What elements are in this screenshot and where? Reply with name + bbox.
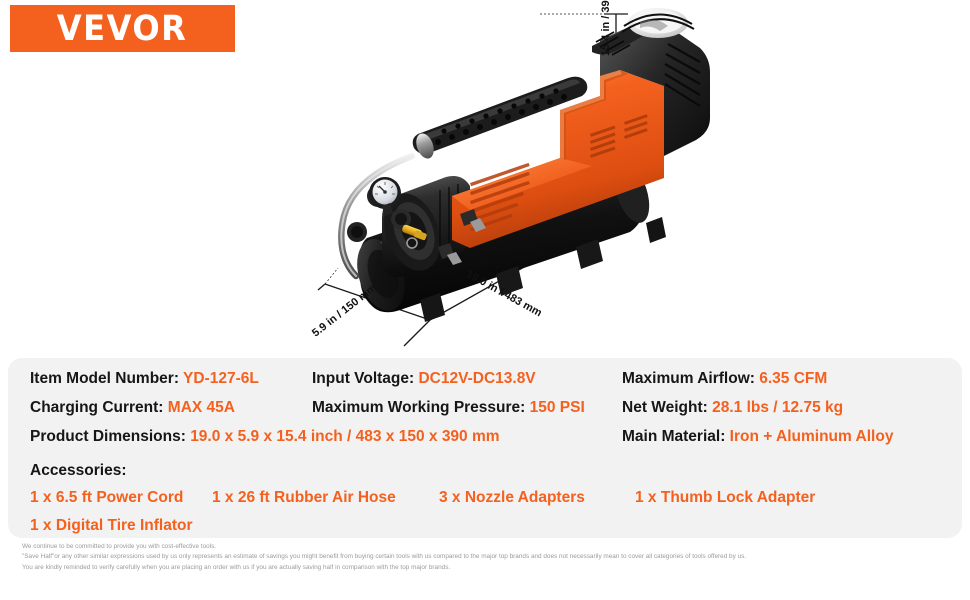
disclaimer-line-3: You are kindly reminded to verify carefu… [22,563,942,573]
spec-label: Net Weight: [622,399,712,416]
spec-label: Main Material: [622,428,730,445]
specifications-panel: Item Model Number: YD-127-6L Input Volta… [8,358,962,538]
accessories-row: 1 x 6.5 ft Power Cord 1 x 26 ft Rubber A… [8,484,962,512]
spec-charging-current: Charging Current: MAX 45A [30,399,312,417]
accessories-heading: Accessories: [8,457,962,484]
spec-value: 150 PSI [530,399,585,416]
disclaimer-line-1: We continue to be committed to provide y… [22,542,942,552]
spec-value: 28.1 lbs / 12.75 kg [712,399,843,416]
dimension-height-label: 15.4 in / 390 mm [600,0,612,56]
spec-row: Product Dimensions: 19.0 x 5.9 x 15.4 in… [8,428,962,457]
spec-label: Input Voltage: [312,370,418,387]
spec-item-model-number: Item Model Number: YD-127-6L [30,370,312,388]
spec-maximum-airflow: Maximum Airflow: 6.35 CFM [622,370,952,388]
spec-value: YD-127-6L [183,370,259,387]
product-illustration [0,0,970,352]
spec-row: Item Model Number: YD-127-6L Input Volta… [8,370,962,399]
spec-product-dimensions: Product Dimensions: 19.0 x 5.9 x 15.4 in… [30,428,622,446]
spec-value: 19.0 x 5.9 x 15.4 inch / 483 x 150 x 390… [190,428,499,445]
accessory-item: 1 x Digital Tire Inflator [30,512,193,540]
spec-input-voltage: Input Voltage: DC12V-DC13.8V [312,370,622,388]
spec-row: Charging Current: MAX 45A Maximum Workin… [8,399,962,428]
spec-maximum-working-pressure: Maximum Working Pressure: 150 PSI [312,399,622,417]
spec-main-material: Main Material: Iron + Aluminum Alloy [622,428,952,446]
accessory-item: 3 x Nozzle Adapters [439,484,635,512]
spec-value: MAX 45A [168,399,235,416]
brand-logo: VEVOR [10,5,235,52]
disclaimer-line-2: "Save Half"or any other similar expressi… [22,552,942,562]
spec-value: Iron + Aluminum Alloy [730,428,894,445]
spec-value: DC12V-DC13.8V [418,370,535,387]
product-hero: 15.4 in / 390 mm 19.0 in / 483 mm 5.9 in… [0,0,970,352]
accessory-item: 1 x 6.5 ft Power Cord [30,484,212,512]
spec-label: Item Model Number: [30,370,183,387]
spec-value: 6.35 CFM [759,370,827,387]
accessories-row: 1 x Digital Tire Inflator [8,512,962,540]
spec-net-weight: Net Weight: 28.1 lbs / 12.75 kg [622,399,952,417]
accessory-item: 1 x 26 ft Rubber Air Hose [212,484,439,512]
spec-label: Product Dimensions: [30,428,190,445]
brand-wordmark: VEVOR [57,9,188,49]
spec-label: Charging Current: [30,399,168,416]
disclaimer-text: We continue to be committed to provide y… [22,542,942,573]
spec-label: Maximum Working Pressure: [312,399,530,416]
spec-label: Maximum Airflow: [622,370,759,387]
accessory-item: 1 x Thumb Lock Adapter [635,484,815,512]
